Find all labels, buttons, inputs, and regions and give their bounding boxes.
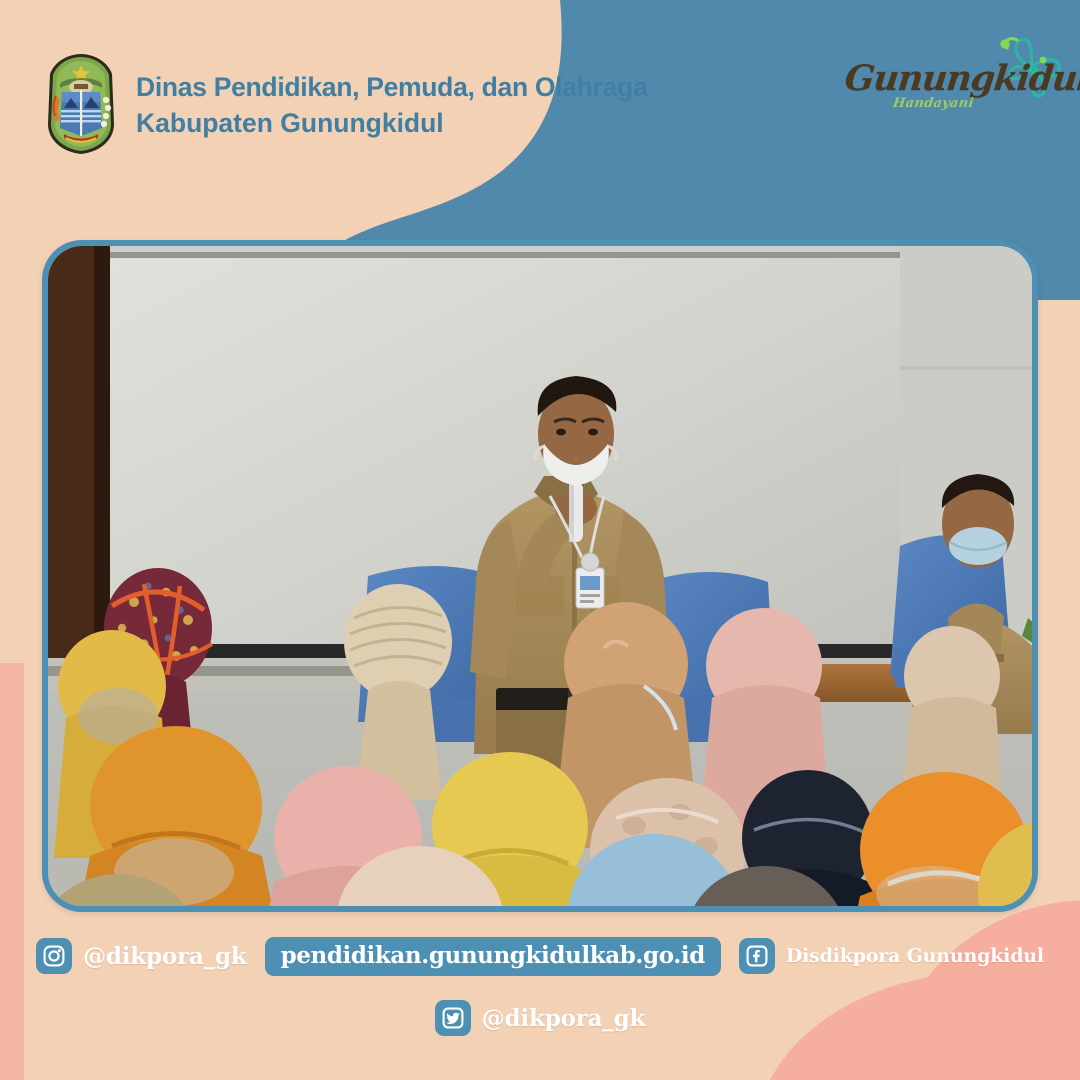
footer-row-primary: @dikpora_gk pendidikan.gunungkidulkab.go… (0, 930, 1080, 982)
event-photo (48, 246, 1032, 906)
page-title: Dinas Pendidikan, Pemuda, dan Olahraga K… (136, 70, 647, 141)
gk-tagline-text: Handayani (892, 96, 975, 111)
org-title-line2: Kabupaten Gunungkidul (136, 106, 647, 142)
gk-wordmark-text: Gunungkidul (843, 58, 1047, 99)
event-photo-illustration (48, 246, 1032, 906)
facebook-page-name: Disdikpora Gunungkidul (786, 945, 1044, 967)
event-photo-frame (42, 240, 1038, 912)
footer-row-secondary: @dikpora_gk (0, 992, 1080, 1044)
poster-canvas: Dinas Pendidikan, Pemuda, dan Olahraga K… (0, 0, 1080, 1080)
twitter-handle: @dikpora_gk (482, 1005, 646, 1032)
facebook-icon[interactable] (739, 938, 775, 974)
instagram-handle: @dikpora_gk (83, 943, 247, 970)
website-url-pill[interactable]: pendidikan.gunungkidulkab.go.id (265, 937, 721, 976)
gunungkidul-regency-crest (44, 52, 118, 156)
org-title-line1: Dinas Pendidikan, Pemuda, dan Olahraga (136, 70, 647, 106)
instagram-icon[interactable] (36, 938, 72, 974)
twitter-icon[interactable] (435, 1000, 471, 1036)
footer-social-bar: @dikpora_gk pendidikan.gunungkidulkab.go… (0, 930, 1080, 1080)
instagram-link[interactable]: @dikpora_gk (36, 938, 247, 974)
twitter-link[interactable]: @dikpora_gk (435, 1000, 646, 1036)
gunungkidul-wordmark-logo: Gunungkidul Handayani (845, 38, 1065, 133)
facebook-link[interactable]: Disdikpora Gunungkidul (739, 938, 1044, 974)
